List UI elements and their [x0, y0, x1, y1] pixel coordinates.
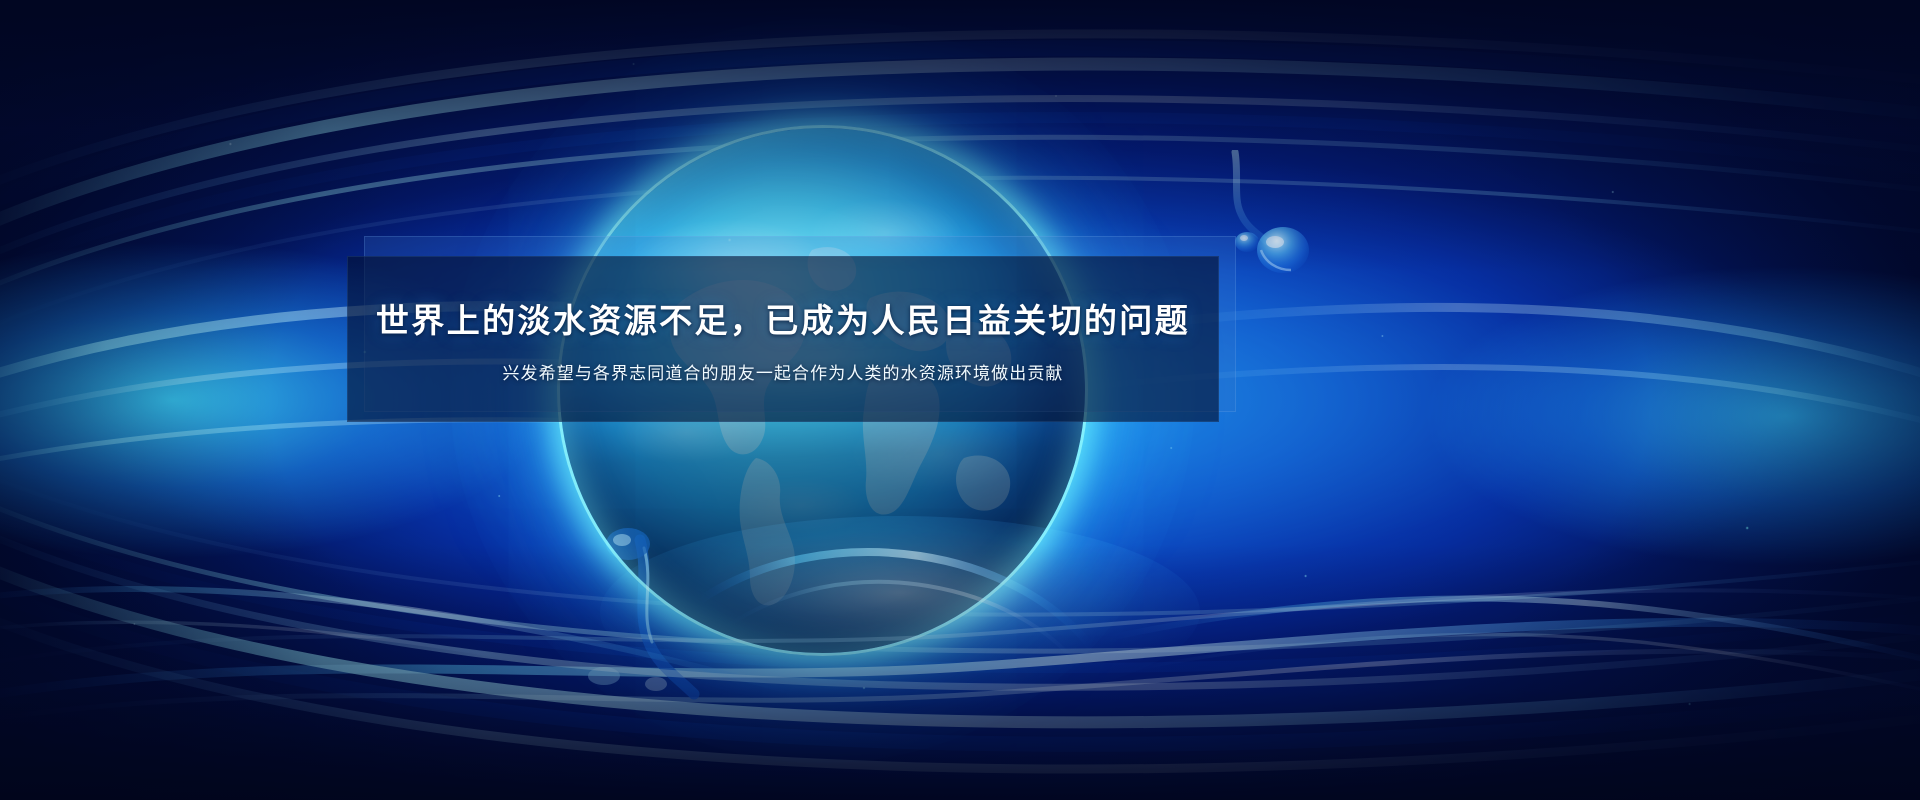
- hero-banner: 世界上的淡水资源不足，已成为人民日益关切的问题 兴发希望与各界志同道合的朋友一起…: [0, 0, 1920, 800]
- banner-headline: 世界上的淡水资源不足，已成为人民日益关切的问题: [376, 294, 1190, 342]
- banner-subheadline: 兴发希望与各界志同道合的朋友一起合作为人类的水资源环境做出贡献: [502, 359, 1063, 384]
- text-panel: 世界上的淡水资源不足，已成为人民日益关切的问题 兴发希望与各界志同道合的朋友一起…: [347, 256, 1219, 422]
